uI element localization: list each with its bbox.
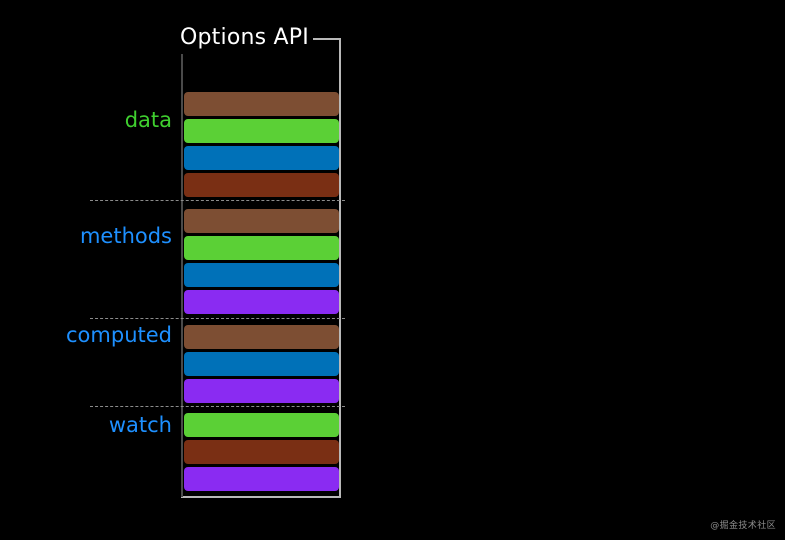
- group-label-wrap-data: data: [0, 108, 172, 132]
- bar-watch-0: [184, 413, 339, 437]
- group-label-methods: methods: [80, 224, 172, 248]
- bar-data-0: [184, 92, 339, 116]
- group-label-wrap-computed: computed: [0, 323, 172, 347]
- bar-data-3: [184, 173, 339, 197]
- bar-computed-1: [184, 352, 339, 376]
- bar-methods-1: [184, 236, 339, 260]
- diagram-canvas: datamethodscomputedwatch Options API @掘金…: [0, 0, 785, 540]
- bar-methods-0: [184, 209, 339, 233]
- bar-watch-1: [184, 440, 339, 464]
- page-title: Options API: [180, 22, 313, 54]
- bar-data-2: [184, 146, 339, 170]
- bar-methods-2: [184, 263, 339, 287]
- bar-computed-2: [184, 379, 339, 403]
- watermark: @掘金技术社区: [710, 520, 776, 532]
- bar-watch-2: [184, 467, 339, 491]
- group-label-data: data: [125, 108, 172, 132]
- bar-computed-0: [184, 325, 339, 349]
- bar-data-1: [184, 119, 339, 143]
- options-api-box-left-edge: [181, 40, 183, 497]
- group-label-watch: watch: [109, 413, 172, 437]
- group-label-wrap-watch: watch: [0, 413, 172, 437]
- bar-methods-3: [184, 290, 339, 314]
- group-separator-0: [90, 200, 345, 201]
- group-label-wrap-methods: methods: [0, 224, 172, 248]
- group-separator-1: [90, 318, 345, 319]
- group-label-computed: computed: [66, 323, 172, 347]
- group-separator-2: [90, 406, 345, 407]
